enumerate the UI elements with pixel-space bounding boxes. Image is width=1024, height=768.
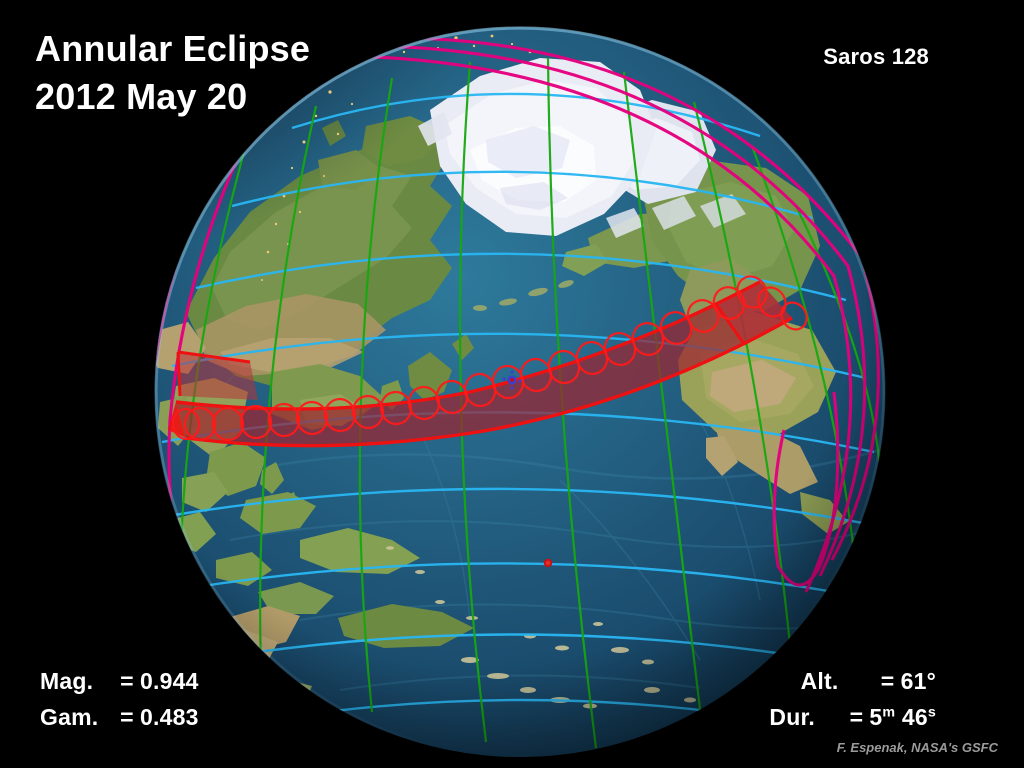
altitude-stat: Alt.=61° — [801, 668, 936, 695]
page-title-line-2: 2012 May 20 — [35, 76, 247, 118]
duration-seconds: 46 — [902, 704, 928, 731]
altitude-equals: = — [875, 668, 901, 695]
gamma-value: 0.483 — [140, 704, 199, 731]
eclipse-map-figure: Annular Eclipse 2012 May 20 Saros 128 Ma… — [0, 0, 1024, 768]
saros-series-label: Saros 128 — [823, 44, 929, 70]
magnitude-stat: Mag.=0.944 — [40, 668, 199, 695]
altitude-key: Alt. — [801, 668, 875, 695]
duration-equals: = — [843, 704, 869, 731]
duration-key: Dur. — [769, 704, 843, 731]
credit-line: F. Espenak, NASA's GSFC — [837, 740, 998, 755]
duration-stat: Dur.=5m 46s — [769, 704, 936, 731]
gamma-key: Gam. — [40, 704, 114, 731]
magnitude-key: Mag. — [40, 668, 114, 695]
altitude-value: 61° — [901, 668, 936, 695]
magnitude-equals: = — [114, 668, 140, 695]
magnitude-value: 0.944 — [140, 668, 199, 695]
gamma-stat: Gam.=0.483 — [40, 704, 199, 731]
duration-minutes-unit: m — [882, 704, 895, 720]
page-title-line-1: Annular Eclipse — [35, 28, 310, 70]
duration-minutes: 5 — [869, 704, 882, 731]
duration-seconds-unit: s — [928, 704, 936, 720]
gamma-equals: = — [114, 704, 140, 731]
